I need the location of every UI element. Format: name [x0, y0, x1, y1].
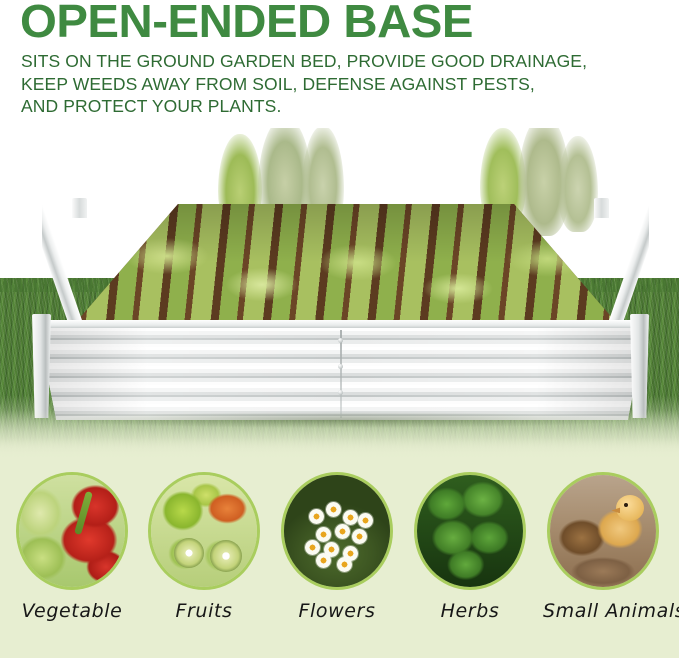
category-item-flowers[interactable]: Flowers: [277, 472, 397, 622]
daisy-flower-icon: [337, 557, 352, 572]
category-item-herbs[interactable]: Herbs: [410, 472, 530, 622]
left-rail-bar: [42, 204, 88, 332]
header-section: OPEN-ENDED BASE SITS ON THE GROUND GARDE…: [0, 0, 679, 128]
daisy-flower-icon: [309, 509, 324, 524]
daisy-flower-icon: [316, 527, 331, 542]
kiwi-slice-icon: [174, 538, 204, 568]
category-label-vegetable: Vegetable: [12, 600, 132, 622]
herbs-photo: [414, 472, 526, 590]
bolt-icon: [338, 338, 343, 343]
baby-chicks-image: [550, 475, 656, 587]
corner-post-front-left: [32, 314, 51, 418]
category-label-fruits: Fruits: [144, 600, 264, 622]
corner-post-front-right: [630, 314, 649, 418]
bolt-icon: [338, 364, 343, 369]
mint-leaves-image: [417, 475, 523, 587]
vegetable-photo: [16, 472, 128, 590]
flowers-photo: [281, 472, 393, 590]
right-side-rail: [603, 204, 649, 332]
daisy-flower-icon: [352, 529, 367, 544]
right-rail-bar: [603, 204, 649, 332]
description-line-2: KEEP WEEDS AWAY FROM SOIL, DEFENSE AGAIN…: [21, 73, 587, 96]
category-label-herbs: Herbs: [410, 600, 530, 622]
category-item-fruits[interactable]: Fruits: [144, 472, 264, 622]
fruits-photo: [148, 472, 260, 590]
category-label-small-animals: Small Animals: [543, 600, 663, 622]
corner-post-back-left: [72, 198, 87, 218]
left-side-rail: [42, 204, 88, 332]
product-feature-image: OPEN-ENDED BASE SITS ON THE GROUND GARDE…: [0, 0, 679, 658]
feature-description: SITS ON THE GROUND GARDEN BED, PROVIDE G…: [21, 50, 587, 118]
page-title: OPEN-ENDED BASE: [20, 0, 473, 44]
daisy-flower-icon: [343, 510, 358, 525]
description-line-1: SITS ON THE GROUND GARDEN BED, PROVIDE G…: [21, 50, 587, 73]
panel-center-seam: [340, 330, 342, 418]
category-item-vegetable[interactable]: Vegetable: [12, 472, 132, 622]
small-animals-photo: [547, 472, 659, 590]
bolt-icon: [338, 390, 343, 395]
garden-bed-photo: [0, 118, 679, 480]
vegetables-image: [19, 475, 125, 587]
fruits-image: [151, 475, 257, 587]
category-item-small-animals[interactable]: Small Animals: [543, 472, 663, 622]
category-label-flowers: Flowers: [277, 600, 397, 622]
category-band: Vegetable Fruits: [0, 464, 679, 658]
category-list: Vegetable Fruits: [0, 464, 679, 658]
description-line-3: AND PROTECT YOUR PLANTS.: [21, 95, 587, 118]
corner-post-back-right: [594, 198, 609, 218]
